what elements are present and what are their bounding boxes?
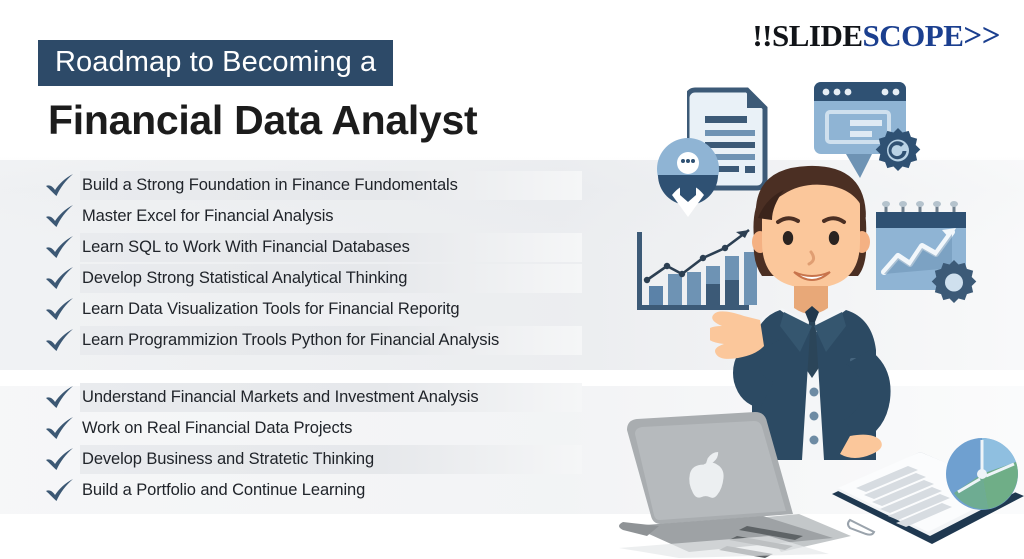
check-icon bbox=[44, 297, 76, 323]
report-book-icon bbox=[828, 432, 1024, 559]
list-item-label: Learn Data Visualization Tools for Finan… bbox=[82, 300, 459, 319]
list-item-label: Learn Programmizion Trools Python for Fi… bbox=[82, 331, 499, 350]
page-title: Financial Data Analyst bbox=[48, 97, 477, 144]
check-icon bbox=[44, 385, 76, 411]
list-item[interactable]: Learn SQL to Work With Financial Databas… bbox=[44, 232, 574, 263]
list-item-label: Build a Portfolio and Continue Learning bbox=[82, 481, 365, 500]
illustration-group bbox=[600, 0, 1024, 559]
list-item[interactable]: Master Excel for Financial Analysis bbox=[44, 201, 574, 232]
list-item-label: Develop Business and Stratetic Thinking bbox=[82, 450, 374, 469]
list-item[interactable]: Build a Portfolio and Continue Learning bbox=[44, 475, 574, 506]
list-item[interactable]: Learn Data Visualization Tools for Finan… bbox=[44, 294, 574, 325]
roadmap-checklist: Build a Strong Foundation in Finance Fun… bbox=[44, 170, 574, 506]
check-icon bbox=[44, 416, 76, 442]
list-item-label: Learn SQL to Work With Financial Databas… bbox=[82, 238, 410, 257]
list-group-separator bbox=[44, 356, 574, 382]
check-icon bbox=[44, 478, 76, 504]
list-item-label: Develop Strong Statistical Analytical Th… bbox=[82, 269, 407, 288]
laptop-icon bbox=[605, 408, 855, 559]
check-icon bbox=[44, 173, 76, 199]
check-icon bbox=[44, 447, 76, 473]
list-item-label: Build a Strong Foundation in Finance Fun… bbox=[82, 176, 458, 195]
list-item[interactable]: Develop Business and Stratetic Thinking bbox=[44, 444, 574, 475]
list-item-label: Understand Financial Markets and Investm… bbox=[82, 388, 479, 407]
check-icon bbox=[44, 328, 76, 354]
infographic-canvas: !!SLIDESCOPE>> Roadmap to Becoming a Fin… bbox=[0, 0, 1024, 559]
list-item[interactable]: Build a Strong Foundation in Finance Fun… bbox=[44, 170, 574, 201]
list-item[interactable]: Work on Real Financial Data Projects bbox=[44, 413, 574, 444]
list-item[interactable]: Understand Financial Markets and Investm… bbox=[44, 382, 574, 413]
check-icon bbox=[44, 235, 76, 261]
list-item-label: Master Excel for Financial Analysis bbox=[82, 207, 333, 226]
check-icon bbox=[44, 266, 76, 292]
check-icon bbox=[44, 204, 76, 230]
list-item[interactable]: Develop Strong Statistical Analytical Th… bbox=[44, 263, 574, 294]
list-item-label: Work on Real Financial Data Projects bbox=[82, 419, 352, 438]
eyebrow-badge: Roadmap to Becoming a bbox=[38, 40, 393, 86]
list-item[interactable]: Learn Programmizion Trools Python for Fi… bbox=[44, 325, 574, 356]
